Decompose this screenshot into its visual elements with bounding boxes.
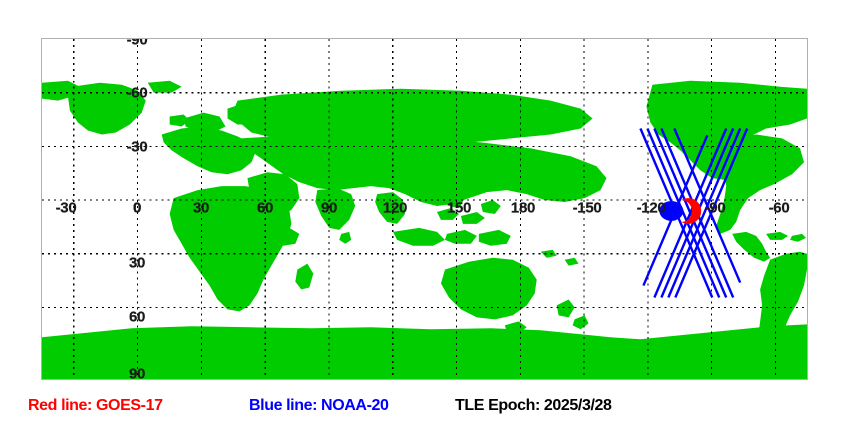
legend-tle-epoch: TLE Epoch: 2025/3/28 <box>455 398 612 414</box>
lat-tick-60: -60 <box>127 86 148 101</box>
lon-tick-60: 60 <box>257 201 273 216</box>
lon-tick-minus-30: -30 <box>56 201 77 216</box>
lon-tick-30: 30 <box>193 201 209 216</box>
lat-tick-minus-30: 30 <box>129 256 145 271</box>
lon-tick-0: 0 <box>133 201 141 216</box>
lon-tick-minus-90: -90 <box>705 201 726 216</box>
legend-goes17: Red line: GOES-17 <box>28 398 163 414</box>
lon-tick-minus-150: -150 <box>573 201 602 216</box>
lon-tick-150: 150 <box>447 201 471 216</box>
lat-tick-90: -90 <box>127 38 148 48</box>
lon-tick-180: 180 <box>511 201 535 216</box>
lon-tick-120: 120 <box>383 201 407 216</box>
figure-legend: Red line: GOES-17 Blue line: NOAA-20 TLE… <box>0 392 850 422</box>
satellite-track-layer <box>42 39 807 379</box>
satellite-ground-track-figure: -90 -60 -30 0 30 60 90 -30 0 30 60 90 12… <box>0 0 850 425</box>
legend-noaa20: Blue line: NOAA-20 <box>249 398 389 414</box>
lat-tick-minus-60: 60 <box>129 310 145 325</box>
lon-tick-minus-60: -60 <box>769 201 790 216</box>
world-map-plot-area: -90 -60 -30 0 30 60 90 -30 0 30 60 90 12… <box>41 38 808 380</box>
lat-tick-30: -30 <box>127 140 148 155</box>
lon-tick-90: 90 <box>321 201 337 216</box>
lat-tick-minus-90: 90 <box>129 367 145 381</box>
lon-tick-minus-120: -120 <box>637 201 666 216</box>
